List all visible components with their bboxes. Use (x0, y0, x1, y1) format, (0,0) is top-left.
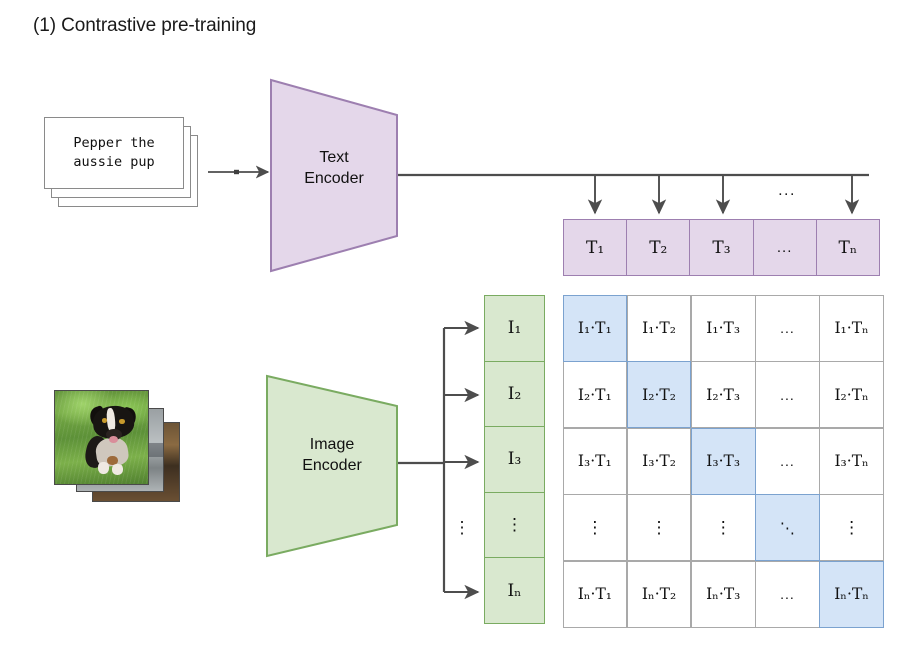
text-embedding-cell-ellipsis[interactable]: ... (753, 219, 817, 276)
text-card-front: Pepper the aussie pup (44, 117, 184, 189)
caption-line-1: Pepper the (73, 135, 154, 151)
similarity-cell-r1-c1[interactable]: I₁·T₁ (563, 295, 628, 362)
image-embedding-cell[interactable]: Iₙ (484, 557, 545, 624)
similarity-cell-r2-c4[interactable]: ... (755, 361, 820, 428)
dog-paw-right (112, 464, 123, 475)
similarity-cell-r5-c4[interactable]: ... (755, 561, 820, 628)
text-embeddings-ellipsis: ... (778, 182, 796, 199)
similarity-cell-r3-c3[interactable]: I₃·T₃ (691, 428, 756, 495)
text-embedding-cell[interactable]: T₃ (689, 219, 753, 276)
image-embedding-cell[interactable]: I₃ (484, 426, 545, 493)
image-encoder-block: Image Encoder (266, 375, 398, 557)
similarity-cell-r1-c5[interactable]: I₁·Tₙ (819, 295, 884, 362)
text-caption: Pepper the aussie pup (73, 134, 154, 172)
text-embedding-cell[interactable]: T₂ (626, 219, 690, 276)
wire-text-to-encoder (208, 170, 268, 174)
similarity-cell-r4-c4[interactable]: ⋱ (755, 494, 820, 561)
similarity-cell-r3-c5[interactable]: I₃·Tₙ (819, 428, 884, 495)
similarity-cell-r2-c2[interactable]: I₂·T₂ (627, 361, 692, 428)
figure-canvas: (1) Contrastive pre-training Pepper the … (0, 0, 906, 654)
similarity-cell-r2-c3[interactable]: I₂·T₃ (691, 361, 756, 428)
similarity-cell-r2-c1[interactable]: I₂·T₁ (563, 361, 628, 428)
similarity-cell-r5-c2[interactable]: Iₙ·T₂ (627, 561, 692, 628)
similarity-cell-r3-c4[interactable]: ... (755, 428, 820, 495)
similarity-cell-r5-c5[interactable]: Iₙ·Tₙ (819, 561, 884, 628)
similarity-cell-r1-c2[interactable]: I₁·T₂ (627, 295, 692, 362)
similarity-cell-r3-c1[interactable]: I₃·T₁ (563, 428, 628, 495)
wire-image-embeddings-bus (398, 328, 478, 592)
text-input-stack: Pepper the aussie pup (44, 117, 204, 207)
image-embeddings-ellipsis: ⋮ (454, 518, 471, 538)
text-embedding-cell[interactable]: Tₙ (816, 219, 880, 276)
image-embedding-column: I₁ I₂ I₃ ⋮ Iₙ (484, 295, 545, 624)
text-embedding-cell[interactable]: T₁ (563, 219, 627, 276)
dog-on-grass-photo (54, 390, 149, 485)
text-encoder-block: Text Encoder (270, 79, 398, 272)
similarity-cell-r1-c3[interactable]: I₁·T₃ (691, 295, 756, 362)
similarity-cell-r4-c3[interactable]: ⋮ (691, 494, 756, 561)
image-embedding-cell-ellipsis[interactable]: ⋮ (484, 492, 545, 559)
similarity-cell-r4-c2[interactable]: ⋮ (627, 494, 692, 561)
dog-paw-left (98, 462, 109, 474)
page-title: (1) Contrastive pre-training (33, 15, 256, 37)
similarity-cell-r4-c5[interactable]: ⋮ (819, 494, 884, 561)
similarity-cell-r1-c4[interactable]: ... (755, 295, 820, 362)
dog-on-grass-photo-surface (55, 391, 148, 484)
image-embedding-cell[interactable]: I₁ (484, 295, 545, 362)
text-encoder-shape (270, 79, 398, 272)
wire-text-embeddings-bus (398, 175, 869, 213)
similarity-cell-r3-c2[interactable]: I₃·T₂ (627, 428, 692, 495)
similarity-matrix: I₁·T₁I₁·T₂I₁·T₃...I₁·TₙI₂·T₁I₂·T₂I₂·T₃..… (563, 295, 884, 628)
similarity-cell-r5-c1[interactable]: Iₙ·T₁ (563, 561, 628, 628)
image-input-stack (48, 390, 198, 505)
image-encoder-shape (266, 375, 398, 557)
text-embedding-row: T₁ T₂ T₃ ... Tₙ (563, 219, 880, 276)
image-embedding-cell[interactable]: I₂ (484, 361, 545, 428)
caption-line-2: aussie pup (73, 154, 154, 170)
similarity-cell-r2-c5[interactable]: I₂·Tₙ (819, 361, 884, 428)
similarity-cell-r5-c3[interactable]: Iₙ·T₃ (691, 561, 756, 628)
dog-eye-left (102, 418, 108, 423)
similarity-cell-r4-c1[interactable]: ⋮ (563, 494, 628, 561)
dog-eye-right (119, 419, 125, 424)
